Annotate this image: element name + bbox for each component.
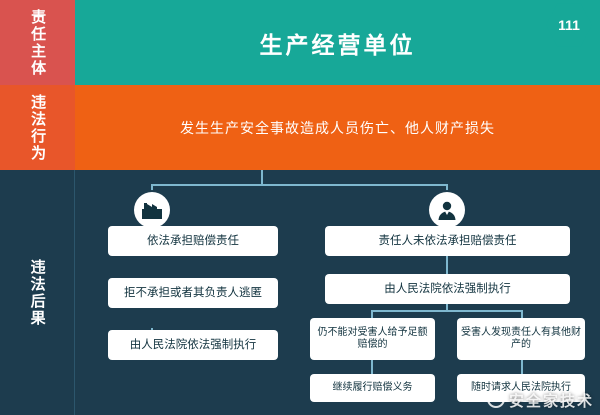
label-illegal-consequence: 违法后果 <box>0 170 75 415</box>
person-icon <box>429 192 465 228</box>
box-court-enforcement-left: 由人民法院依法强制执行 <box>108 330 278 360</box>
box-other-property-found-text: 受害人发现责任人有其他财产的 <box>461 327 581 352</box>
consequence-area: 依法承担赔偿责任 拒不承担或者其负责人逃匿 由人民法院依法强制执行 责任人未依法… <box>75 170 600 415</box>
box-continue-obligation: 继续履行赔偿义务 <box>310 374 435 402</box>
page-number-text: 111 <box>558 17 580 33</box>
box-refuse-or-flee: 拒不承担或者其负责人逃匿 <box>108 278 278 308</box>
subject-band-text: 生产经营单位 <box>260 26 416 60</box>
box-assume-liability: 依法承担赔偿责任 <box>108 226 278 256</box>
subject-band: 生产经营单位 <box>75 0 600 85</box>
watermark-text: 安全家技术 <box>509 393 594 410</box>
box-other-property-found: 受害人发现责任人有其他财产的 <box>457 318 585 360</box>
label-responsibility-subject-text: 责任主体 <box>29 9 46 77</box>
box-refuse-or-flee-text: 拒不承担或者其负责人逃匿 <box>124 286 262 300</box>
connector-right-fork-l <box>371 310 373 318</box>
box-court-enforcement-right: 由人民法院依法强制执行 <box>325 274 570 304</box>
left-label-column: 责任主体 违法行为 违法后果 <box>0 0 75 415</box>
box-continue-obligation-text: 继续履行赔偿义务 <box>333 382 413 395</box>
diagram-canvas: 责任主体 违法行为 违法后果 生产经营单位 发生生产安全事故造成人员伤亡、他人财… <box>0 0 600 415</box>
connector-split <box>151 184 448 186</box>
label-illegal-consequence-text: 违法后果 <box>28 259 45 327</box>
connector-right-fork-r <box>521 310 523 318</box>
box-insufficient-compensation: 仍不能对受害人给予足额赔偿的 <box>310 318 435 360</box>
box-court-enforcement-right-text: 由人民法院依法强制执行 <box>384 282 511 296</box>
box-assume-liability-text: 依法承担赔偿责任 <box>147 234 239 248</box>
watermark: 安全家技术 <box>487 390 594 411</box>
box-person-not-assume: 责任人未依法承担赔偿责任 <box>325 226 570 256</box>
behavior-band: 发生生产安全事故造成人员伤亡、他人财产损失 <box>75 85 600 170</box>
behavior-band-text: 发生生产安全事故造成人员伤亡、他人财产损失 <box>180 118 495 138</box>
watermark-mark-icon <box>487 390 505 408</box>
label-illegal-behavior-text: 违法行为 <box>29 94 46 162</box>
connector-right-fork <box>371 310 523 312</box>
factory-icon <box>134 192 170 228</box>
connector-right-b <box>446 256 448 274</box>
label-illegal-behavior: 违法行为 <box>0 85 75 170</box>
connector-right-fork-l2 <box>371 360 373 374</box>
connector-right-fork-r2 <box>521 360 523 374</box>
label-responsibility-subject: 责任主体 <box>0 0 75 85</box>
box-person-not-assume-text: 责任人未依法承担赔偿责任 <box>379 234 517 248</box>
box-court-enforcement-left-text: 由人民法院依法强制执行 <box>130 338 257 352</box>
box-insufficient-compensation-text: 仍不能对受害人给予足额赔偿的 <box>314 327 431 352</box>
connector-stem <box>261 170 263 184</box>
